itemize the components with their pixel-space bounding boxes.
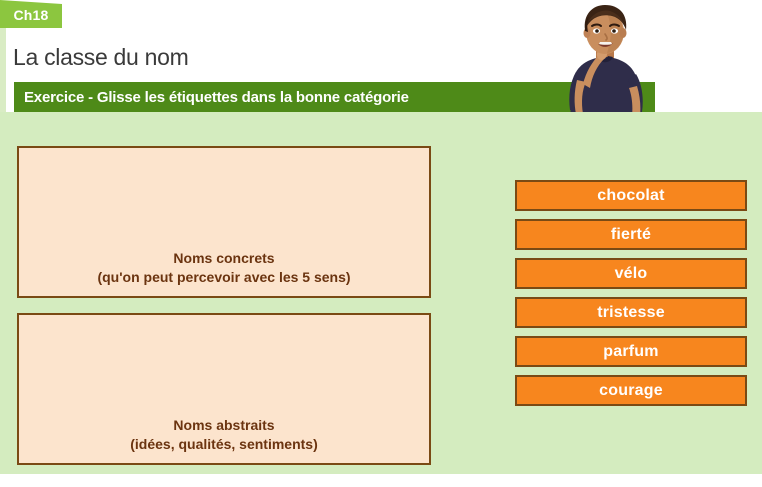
exercise-page: Ch18 La classe du nom Exercice - Glisse … (0, 0, 762, 487)
tag-label: courage (599, 382, 663, 400)
dropzone-title: Noms abstraits (173, 416, 274, 435)
page-title: La classe du nom (13, 44, 188, 71)
dropzone-noms-abstraits[interactable]: Noms abstraits (idées, qualités, sentime… (17, 313, 431, 465)
left-green-rail (0, 26, 6, 112)
draggable-tag[interactable]: courage (515, 375, 747, 406)
draggable-tag[interactable]: tristesse (515, 297, 747, 328)
exercise-instruction-label: Exercice - Glisse les étiquettes dans la… (14, 89, 409, 106)
draggable-tag[interactable]: vélo (515, 258, 747, 289)
chapter-badge-label: Ch18 (13, 5, 48, 23)
draggable-tag[interactable]: chocolat (515, 180, 747, 211)
tag-label: chocolat (597, 187, 664, 205)
student-character-illustration (552, 0, 662, 118)
dropzone-title: Noms concrets (173, 249, 274, 268)
dropzone-noms-concrets[interactable]: Noms concrets (qu'on peut percevoir avec… (17, 146, 431, 298)
tag-label: vélo (615, 265, 648, 283)
chapter-badge: Ch18 (0, 0, 62, 28)
dropzone-subtitle: (idées, qualités, sentiments) (130, 435, 318, 454)
draggable-tag-tray: chocolat fierté vélo tristesse parfum co… (515, 180, 747, 406)
tag-label: parfum (603, 343, 658, 361)
draggable-tag[interactable]: parfum (515, 336, 747, 367)
dropzone-subtitle: (qu'on peut percevoir avec les 5 sens) (97, 268, 350, 287)
tag-label: fierté (611, 226, 651, 244)
tag-label: tristesse (597, 304, 665, 322)
draggable-tag[interactable]: fierté (515, 219, 747, 250)
